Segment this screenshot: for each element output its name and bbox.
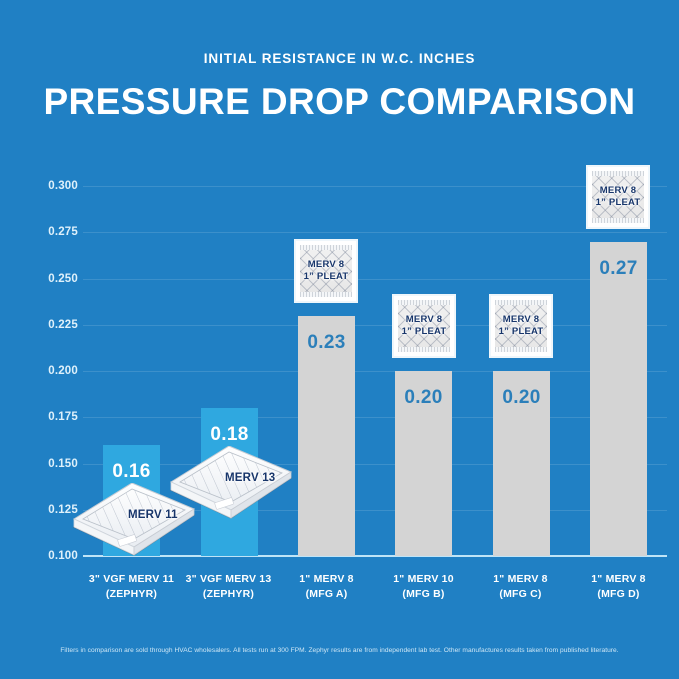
filter-icon-label: MERV 81” PLEAT (402, 314, 447, 338)
bar-6 (590, 242, 647, 557)
pleated-filter-icon: MERV 81” PLEAT (392, 294, 456, 358)
y-axis-tick-label: 0.175 (22, 411, 78, 423)
pressure-drop-chart: INITIAL RESISTANCE IN W.C. INCHES PRESSU… (0, 0, 679, 679)
plot-area: 0.3000.2750.2500.2250.2000.1750.1500.125… (0, 0, 679, 679)
x-axis-label-line2: (MFG D) (570, 587, 667, 602)
filter-top-edge (398, 300, 450, 305)
y-axis-tick-label: 0.200 (22, 365, 78, 377)
x-axis-label-line2: (MFG A) (278, 587, 375, 602)
x-axis-label-5: 1" MERV 8(MFG C) (472, 572, 569, 602)
x-axis-label-3: 1" MERV 8(MFG A) (278, 572, 375, 602)
chart-footnote: Filters in comparison are sold through H… (0, 647, 679, 655)
gridline (83, 186, 667, 187)
filter-top-edge (495, 300, 547, 305)
filter-icon-label-line1: MERV 8 (596, 185, 641, 197)
filter-bottom-edge (300, 292, 352, 297)
filter-icon-label: MERV 11 (128, 509, 178, 521)
gridline (83, 325, 667, 326)
bar-value-label: 0.20 (395, 387, 452, 409)
bar-value-label: 0.23 (298, 332, 355, 354)
gridline (83, 232, 667, 233)
filter-bottom-edge (398, 347, 450, 352)
x-axis-label-line1: 3" VGF MERV 11 (83, 572, 180, 587)
x-axis-label-line2: (ZEPHYR) (180, 587, 277, 602)
y-axis-tick-label: 0.300 (22, 180, 78, 192)
bar-value-label: 0.18 (201, 424, 258, 446)
y-axis-tick-label: 0.225 (22, 319, 78, 331)
y-axis-tick-labels: 0.3000.2750.2500.2250.2000.1750.1500.125… (22, 0, 78, 679)
x-axis-label-line1: 1" MERV 8 (278, 572, 375, 587)
bar-value-label: 0.20 (493, 387, 550, 409)
x-axis-label-2: 3" VGF MERV 13(ZEPHYR) (180, 572, 277, 602)
y-axis-tick-label: 0.275 (22, 226, 78, 238)
filter-icon-label: MERV 81” PLEAT (499, 314, 544, 338)
filter-icon-label: MERV 81” PLEAT (304, 259, 349, 283)
x-axis-label-4: 1" MERV 10(MFG B) (375, 572, 472, 602)
y-axis-tick-label: 0.250 (22, 273, 78, 285)
x-axis-label-6: 1" MERV 8(MFG D) (570, 572, 667, 602)
filter-icon-label-line2: 1” PLEAT (304, 271, 349, 283)
x-axis-label-line1: 3" VGF MERV 13 (180, 572, 277, 587)
pleated-filter-icon: MERV 81” PLEAT (489, 294, 553, 358)
filter-icon-label-line1: MERV 8 (499, 314, 544, 326)
filter-bottom-edge (495, 347, 547, 352)
filter-top-edge (592, 171, 644, 176)
bar-value-label: 0.16 (103, 461, 160, 483)
x-axis-label-1: 3" VGF MERV 11(ZEPHYR) (83, 572, 180, 602)
x-axis-label-line1: 1" MERV 8 (472, 572, 569, 587)
filter-bottom-edge (592, 218, 644, 223)
x-axis-label-line2: (ZEPHYR) (83, 587, 180, 602)
filter-3d-shape (169, 446, 293, 524)
pleated-filter-icon: MERV 81” PLEAT (294, 239, 358, 303)
filter-icon-label: MERV 81” PLEAT (596, 185, 641, 209)
gridline (83, 417, 667, 418)
y-axis-tick-label: 0.125 (22, 504, 78, 516)
x-axis-label-line1: 1" MERV 10 (375, 572, 472, 587)
y-axis-tick-label: 0.100 (22, 550, 78, 562)
x-axis-label-line1: 1" MERV 8 (570, 572, 667, 587)
filter-icon-label-line2: 1” PLEAT (499, 326, 544, 338)
filter-icon-label-line2: 1” PLEAT (596, 197, 641, 209)
gridline (83, 371, 667, 372)
x-axis-label-line2: (MFG B) (375, 587, 472, 602)
pleated-filter-icon: MERV 81” PLEAT (586, 165, 650, 229)
filter-icon-label-line1: MERV 8 (402, 314, 447, 326)
filter-icon-label-line1: MERV 8 (304, 259, 349, 271)
filter-top-edge (300, 245, 352, 250)
filter-icon-label-line2: 1” PLEAT (402, 326, 447, 338)
x-axis-label-line2: (MFG C) (472, 587, 569, 602)
filter-icon-label: MERV 13 (225, 472, 275, 484)
gridline (83, 279, 667, 280)
bar-value-label: 0.27 (590, 258, 647, 280)
angled-pleated-filter-icon: MERV 13 (169, 446, 293, 524)
y-axis-tick-label: 0.150 (22, 458, 78, 470)
